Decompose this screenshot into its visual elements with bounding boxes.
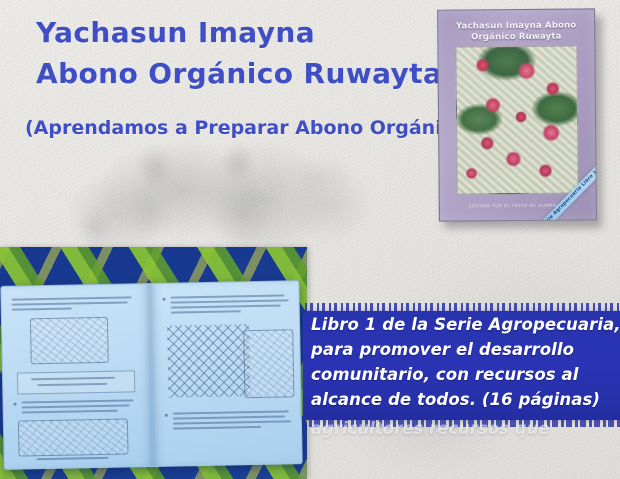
cover-title-line-2: Orgánico Ruwayta bbox=[438, 31, 594, 43]
page-figure-illustration bbox=[243, 329, 294, 398]
caption-line-3: comunitario, con recursos al bbox=[311, 362, 615, 387]
page-illustration-top-left bbox=[30, 317, 109, 364]
slide-canvas: Yachasun Imayna Abono Orgánico Ruwayta (… bbox=[0, 0, 620, 479]
cover-footer-text: EDITADA POR EL TEXTO DE HUAMALIES bbox=[440, 202, 596, 208]
title-line-2: Abono Orgánico Ruwayta bbox=[36, 55, 456, 93]
page-illustration-bottom-left bbox=[18, 418, 129, 456]
caption-line-1: Libro 1 de la Serie Agropecuaria, bbox=[311, 312, 615, 337]
caption-line-4: alcance de todos. (16 páginas) bbox=[311, 387, 615, 412]
book-cover: Yachasun Imayna Abono Orgánico Ruwayta E… bbox=[437, 8, 597, 221]
headline-block: Yachasun Imayna Abono Orgánico Ruwayta (… bbox=[36, 14, 456, 140]
page-grid-illustration bbox=[167, 324, 250, 398]
open-book-photo bbox=[0, 247, 307, 479]
cover-title: Yachasun Imayna Abono Orgánico Ruwayta bbox=[438, 20, 594, 43]
open-book bbox=[0, 280, 303, 468]
book-page-right bbox=[149, 280, 303, 467]
caption-text: Libro 1 de la Serie Agropecuaria, para p… bbox=[311, 312, 615, 412]
faded-caption-text: agricultores recursos que bbox=[311, 418, 620, 440]
caption-line-2: para promover el desarrollo bbox=[311, 337, 615, 362]
title-line-1: Yachasun Imayna bbox=[36, 14, 456, 52]
cover-flower-photo bbox=[455, 45, 578, 194]
book-cover-image: Yachasun Imayna Abono Orgánico Ruwayta E… bbox=[438, 9, 600, 225]
book-page-left bbox=[0, 283, 154, 470]
cover-title-line-1: Yachasun Imayna Abono bbox=[438, 20, 594, 32]
subtitle: (Aprendamos a Preparar Abono Orgánico) bbox=[25, 116, 456, 140]
